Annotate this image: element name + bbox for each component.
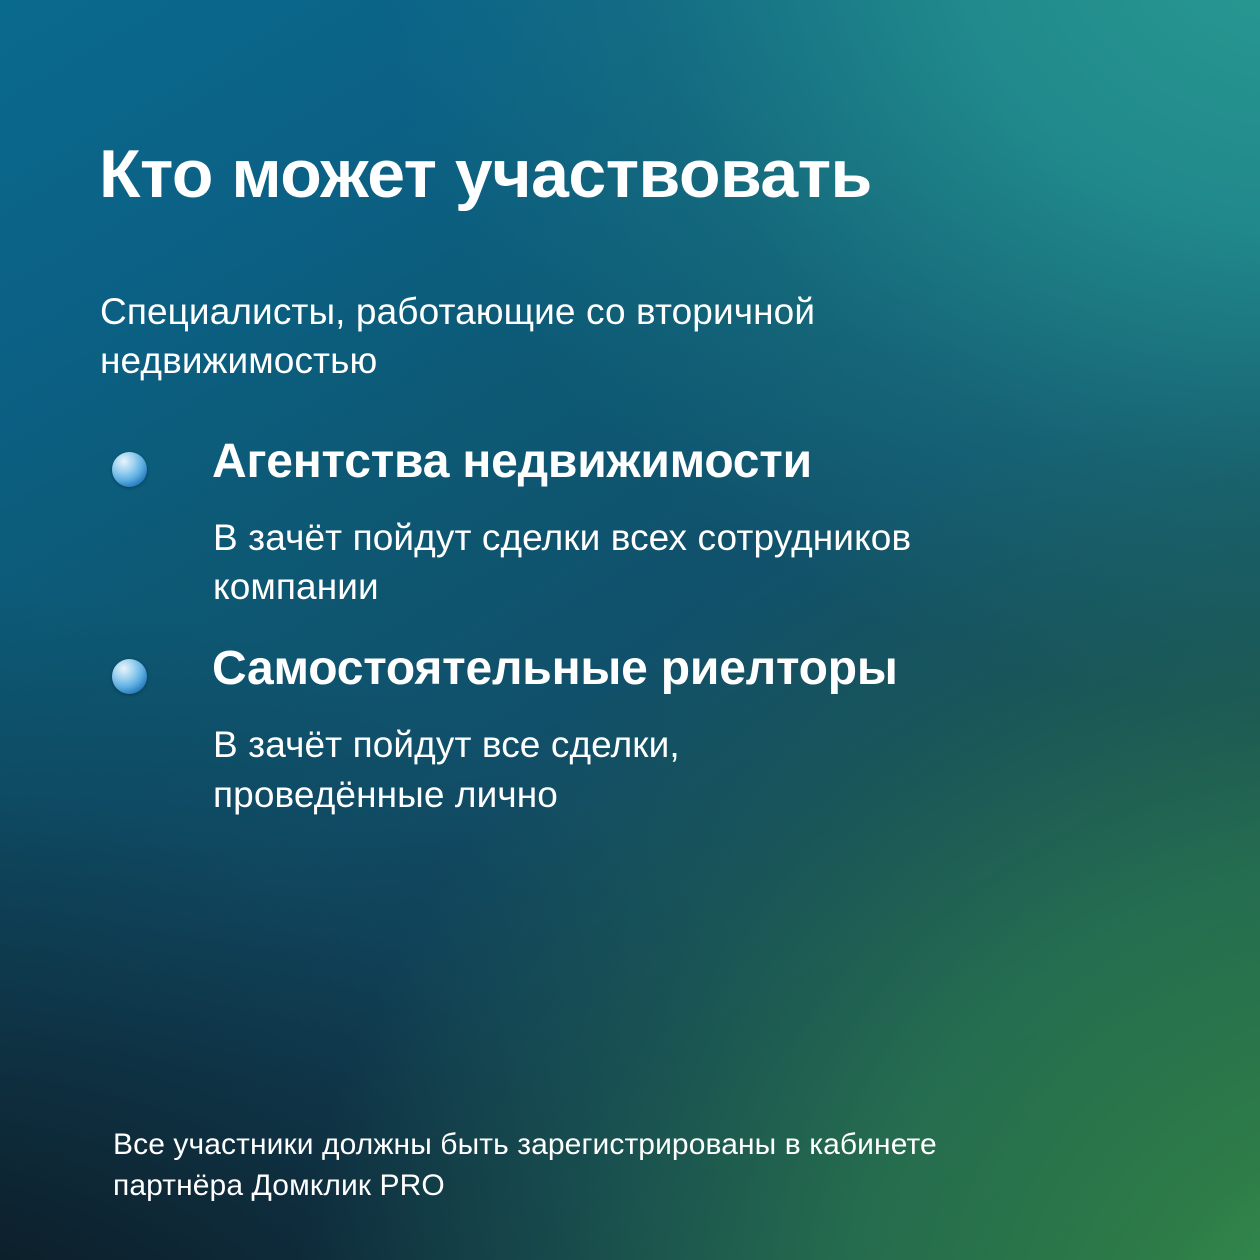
subtitle-text: Специалисты, работающие со вторичной нед… bbox=[100, 287, 1060, 385]
page-title: Кто может участвовать bbox=[99, 139, 872, 209]
bullet-heading-row: Самостоятельные риелторы bbox=[0, 642, 1260, 704]
bullet-list: Агентства недвижимости В зачёт пойдут сд… bbox=[0, 435, 1260, 850]
bullet-description: В зачёт пойдут сделки всех сотрудников к… bbox=[213, 513, 913, 611]
bullet-description: В зачёт пойдут все сделки, проведённые л… bbox=[213, 720, 913, 818]
bullet-heading-row: Агентства недвижимости bbox=[0, 435, 1260, 497]
promo-slide: Кто может участвовать Специалисты, работ… bbox=[0, 0, 1260, 1260]
bullet-title: Агентства недвижимости bbox=[212, 435, 1260, 489]
sphere-bullet-icon bbox=[112, 659, 147, 694]
list-item: Самостоятельные риелторы В зачёт пойдут … bbox=[0, 642, 1260, 818]
sphere-bullet-icon bbox=[112, 452, 147, 487]
footnote-text: Все участники должны быть зарегистрирова… bbox=[113, 1124, 1073, 1207]
bullet-title: Самостоятельные риелторы bbox=[212, 642, 1260, 696]
list-item: Агентства недвижимости В зачёт пойдут сд… bbox=[0, 435, 1260, 611]
